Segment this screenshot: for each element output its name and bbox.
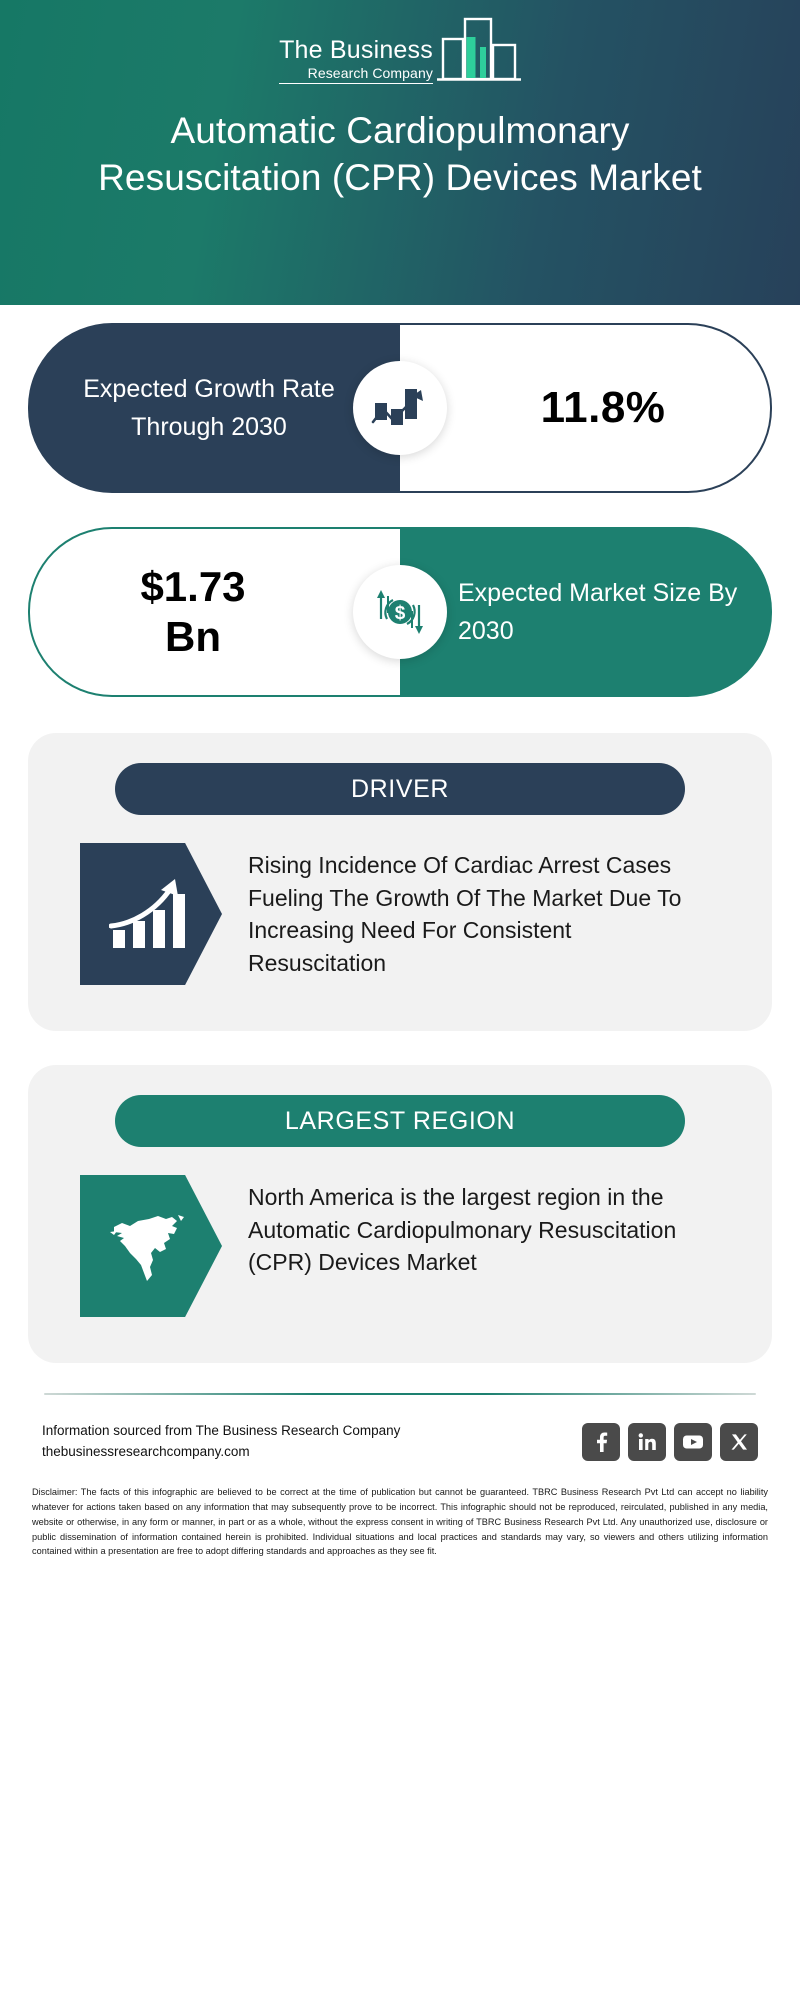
growth-rate-value: 11.8% (400, 323, 772, 493)
disclaimer-text: Disclaimer: The facts of this infographi… (32, 1485, 768, 1560)
panel-largest-region: LARGEST REGION North America is the larg… (28, 1065, 772, 1363)
logo-wordmark: The Business Research Company (279, 38, 433, 88)
infographic-page: The Business Research Company Automatic … (0, 0, 800, 2000)
largest-region-body-row: North America is the largest region in t… (62, 1175, 738, 1317)
x-twitter-icon[interactable] (720, 1423, 758, 1461)
driver-body-text: Rising Incidence Of Cardiac Arrest Cases… (248, 843, 688, 980)
stat-card-market-size: $1.73 Bn Expected Market Size By 2030 $ (28, 527, 772, 697)
social-links (582, 1423, 758, 1461)
driver-body-row: Rising Incidence Of Cardiac Arrest Cases… (62, 843, 738, 985)
facebook-icon[interactable] (582, 1423, 620, 1461)
stat-card-growth-rate: Expected Growth Rate Through 2030 11.8% (28, 323, 772, 493)
source-attribution: Information sourced from The Business Re… (42, 1421, 400, 1463)
market-size-value-line1: $1.73 (140, 563, 245, 610)
largest-region-body-text: North America is the largest region in t… (248, 1175, 688, 1279)
linkedin-icon[interactable] (628, 1423, 666, 1461)
market-size-value-line2: Bn (165, 613, 221, 660)
market-size-label: Expected Market Size By 2030 (400, 527, 772, 697)
source-line2[interactable]: thebusinessresearchcompany.com (42, 1442, 400, 1463)
largest-region-heading: LARGEST REGION (115, 1095, 685, 1147)
logo-line2: Research Company (279, 66, 433, 84)
footer: Information sourced from The Business Re… (28, 1421, 772, 1463)
north-america-map-icon (80, 1175, 222, 1317)
svg-text:$: $ (395, 603, 406, 624)
source-line1: Information sourced from The Business Re… (42, 1421, 400, 1442)
market-size-value: $1.73 Bn (28, 527, 400, 697)
growth-rate-label: Expected Growth Rate Through 2030 (28, 323, 400, 493)
company-logo: The Business Research Company (0, 16, 800, 88)
bar-chart-logo-icon (437, 15, 521, 88)
stat-cards-section: Expected Growth Rate Through 2030 11.8% … (0, 305, 800, 711)
logo-line1: The Business (279, 38, 433, 63)
panel-driver: DRIVER Rising Incidence Of Cardiac Arres… (28, 733, 772, 1031)
growth-chart-arrow-icon (353, 361, 447, 455)
dollar-circulation-icon: $ (353, 565, 447, 659)
footer-divider (44, 1393, 756, 1395)
header-banner: The Business Research Company Automatic … (0, 0, 800, 305)
rising-bar-chart-icon (80, 843, 222, 985)
youtube-icon[interactable] (674, 1423, 712, 1461)
driver-heading: DRIVER (115, 763, 685, 815)
page-title: Automatic Cardiopulmonary Resuscitation … (70, 108, 730, 201)
